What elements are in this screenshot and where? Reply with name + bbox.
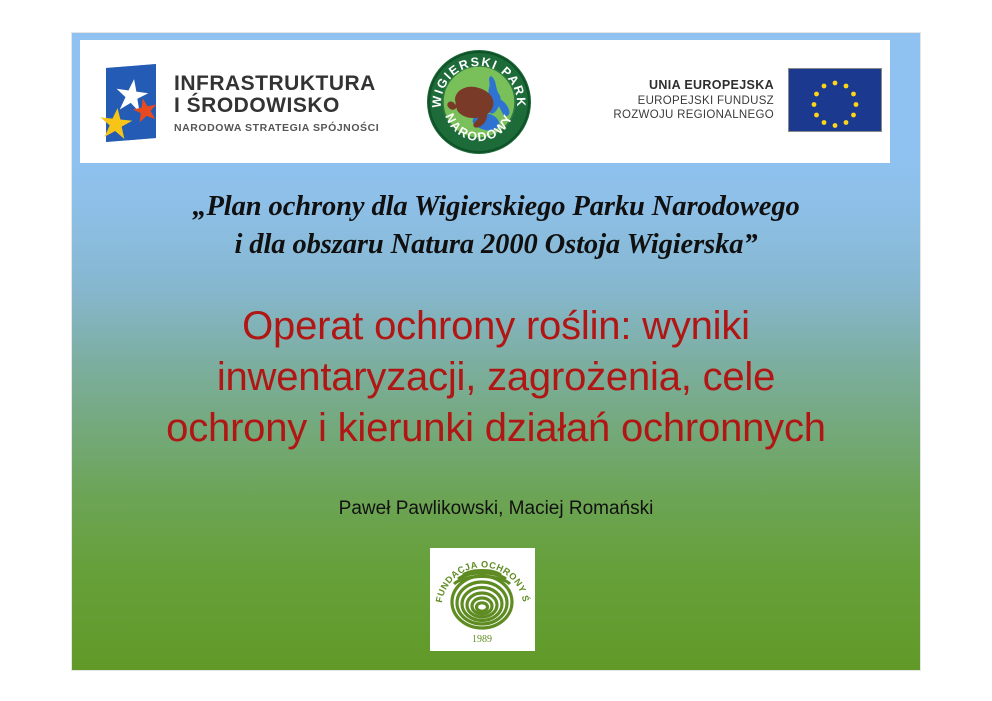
plan-quote-line-2: i dla obszaru Natura 2000 Ostoja Wigiers…: [72, 226, 920, 264]
plan-quote-line-1: „Plan ochrony dla Wigierskiego Parku Nar…: [72, 188, 920, 226]
wigierski-park-narodowy-emblem-icon: WIGIERSKI PARK NARODOWY: [425, 48, 533, 156]
eu-line-1: UNIA EUROPEJSKA: [613, 78, 774, 93]
nss-line-1: INFRASTRUKTURA: [174, 73, 379, 94]
infrastruktura-srodowisko-text: INFRASTRUKTURA I ŚRODOWISKO NARODOWA STR…: [174, 73, 379, 134]
infrastruktura-srodowisko-logo: INFRASTRUKTURA I ŚRODOWISKO NARODOWA STR…: [96, 62, 379, 144]
plan-quote-title: „Plan ochrony dla Wigierskiego Parku Nar…: [72, 188, 920, 264]
eu-logo-text: UNIA EUROPEJSKA EUROPEJSKI FUNDUSZ ROZWO…: [613, 78, 774, 121]
slide-main-heading: Operat ochrony roślin: wyniki inwentaryz…: [72, 301, 920, 453]
narodowa-fundacja-ochrony-srodowiska-emblem-icon: NARODOWA FUNDACJA OCHRONY ŚRODOWISKA 198…: [430, 548, 535, 651]
sponsor-logo-band: INFRASTRUKTURA I ŚRODOWISKO NARODOWA STR…: [80, 40, 890, 163]
nss-line-2: I ŚRODOWISKO: [174, 95, 379, 116]
main-heading-line-2: inwentaryzacji, zagrożenia, cele: [72, 352, 920, 403]
main-heading-line-1: Operat ochrony roślin: wyniki: [72, 301, 920, 352]
nss-subtitle: NARODOWA STRATEGIA SPÓJNOŚCI: [174, 123, 379, 134]
main-heading-line-3: ochrony i kierunki działań ochronnych: [72, 403, 920, 454]
presentation-slide: INFRASTRUKTURA I ŚRODOWISKO NARODOWA STR…: [72, 33, 920, 670]
eu-line-3: ROZWOJU REGIONALNEGO: [613, 108, 774, 122]
eu-line-2: EUROPEJSKI FUNDUSZ: [613, 94, 774, 108]
slide-stage: INFRASTRUKTURA I ŚRODOWISKO NARODOWA STR…: [0, 0, 992, 701]
foundation-year: 1989: [472, 634, 492, 645]
three-stars-mark-icon: [96, 62, 162, 144]
european-union-logo: UNIA EUROPEJSKA EUROPEJSKI FUNDUSZ ROZWO…: [613, 68, 882, 132]
authors-line: Paweł Pawlikowski, Maciej Romański: [72, 498, 920, 520]
european-union-flag-icon: [788, 68, 882, 132]
